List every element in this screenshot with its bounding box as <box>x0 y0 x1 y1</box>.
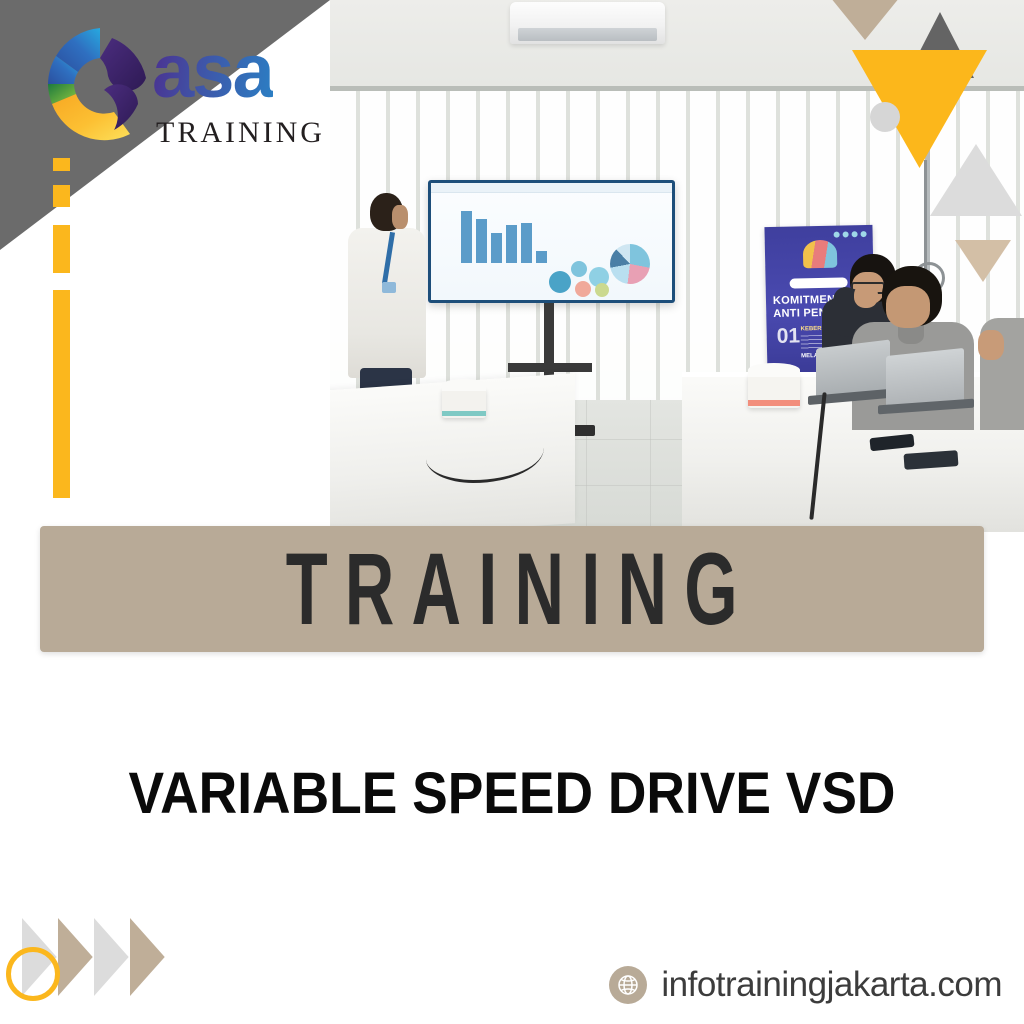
air-conditioner-icon <box>510 2 665 44</box>
tissue-box <box>442 388 486 418</box>
decor-circle-grey <box>870 102 900 132</box>
screen-bubble-chart <box>549 261 619 297</box>
decor-tick-long <box>53 290 70 498</box>
poster-dots <box>834 231 867 238</box>
globe-icon <box>609 966 647 1004</box>
tissue-top <box>442 379 486 391</box>
decor-ring-outline <box>6 947 60 1001</box>
ac-vent <box>518 28 657 41</box>
participant-1-hand <box>854 284 878 308</box>
asa-logo-icon <box>34 18 166 150</box>
hanger-cord <box>924 160 927 270</box>
decor-tick-medium <box>53 225 70 273</box>
course-title: VARIABLE SPEED DRIVE VSD <box>41 760 983 827</box>
poster-canvas: KOMITMEN SAYA ANTI PENYUAPAN 01 KEBERLAN… <box>0 0 1024 1024</box>
poster-item-1-number: 01 <box>776 324 800 348</box>
tissue-band <box>442 411 486 416</box>
tissue-band <box>748 400 800 406</box>
screen-surface <box>431 183 672 300</box>
presenter-face <box>392 205 408 229</box>
logo-wordmark: asa <box>152 38 273 106</box>
website-url[interactable]: infotrainingjakarta.com <box>661 965 1002 1005</box>
training-banner: TRAINING <box>40 526 984 652</box>
logo-subtitle: TRAINING <box>156 116 325 150</box>
screen-toolbar <box>431 183 672 193</box>
presenter-badge <box>382 282 396 293</box>
poster-illustration <box>803 240 838 269</box>
training-banner-label: TRAINING <box>269 530 755 648</box>
tissue-top <box>748 363 800 377</box>
tissue-box <box>748 374 800 408</box>
screen-bar-chart <box>461 211 547 263</box>
decor-tick-small <box>53 185 70 207</box>
participant-3-hand <box>978 330 1004 360</box>
website-footer[interactable]: infotrainingjakarta.com <box>609 965 1002 1005</box>
poster-pill <box>790 277 848 288</box>
chevron-tan-icon <box>130 918 186 996</box>
decor-tick-short <box>53 158 70 171</box>
screen-pie-chart <box>610 244 650 284</box>
display-screen <box>428 180 675 303</box>
participant-2-face <box>886 286 930 328</box>
